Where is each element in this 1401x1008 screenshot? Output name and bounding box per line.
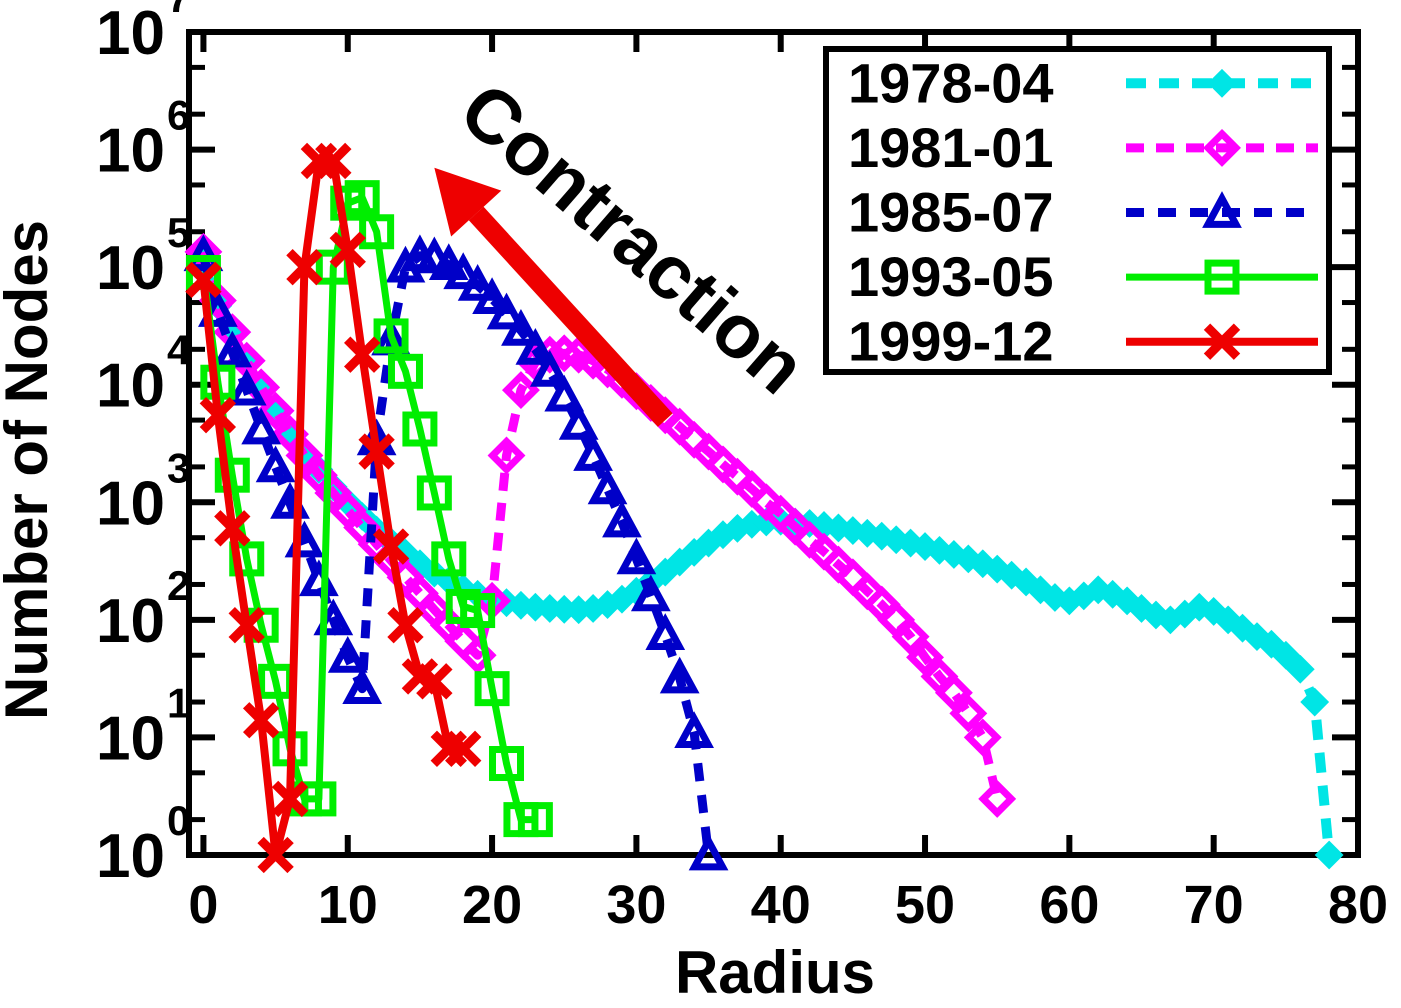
legend-label: 1999-12 [848, 310, 1054, 373]
svg-text:10: 10 [96, 469, 165, 538]
svg-text:10: 10 [96, 0, 165, 68]
x-tick-label: 10 [318, 875, 378, 935]
x-tick-label: 60 [1039, 875, 1099, 935]
svg-text:10: 10 [96, 117, 165, 186]
svg-text:7: 7 [167, 0, 190, 21]
x-tick-label: 30 [606, 875, 666, 935]
svg-text:10: 10 [96, 587, 165, 656]
legend-label: 1981-01 [848, 116, 1054, 179]
svg-text:10: 10 [96, 822, 165, 891]
chart-canvas: 100101102103104105106107 010203040506070… [0, 0, 1401, 1008]
x-axis-tick-labels: 01020304050607080 [188, 875, 1388, 935]
x-tick-label: 0 [188, 875, 218, 935]
y-axis-title: Number of Nodes [0, 220, 60, 720]
x-tick-label: 40 [751, 875, 811, 935]
x-tick-label: 50 [895, 875, 955, 935]
x-tick-label: 70 [1184, 875, 1244, 935]
legend-label: 1978-04 [848, 51, 1054, 114]
x-tick-label: 20 [462, 875, 522, 935]
chart-figure: 100101102103104105106107 010203040506070… [0, 0, 1401, 1008]
legend[interactable]: 1978-041981-011985-071993-051999-12 [826, 49, 1329, 373]
legend-label: 1993-05 [848, 245, 1054, 308]
x-tick-label: 80 [1328, 875, 1388, 935]
svg-text:10: 10 [96, 704, 165, 773]
svg-text:10: 10 [96, 234, 165, 303]
svg-text:10: 10 [96, 352, 165, 421]
x-axis-title: Radius [675, 939, 875, 1006]
legend-label: 1985-07 [848, 181, 1054, 244]
